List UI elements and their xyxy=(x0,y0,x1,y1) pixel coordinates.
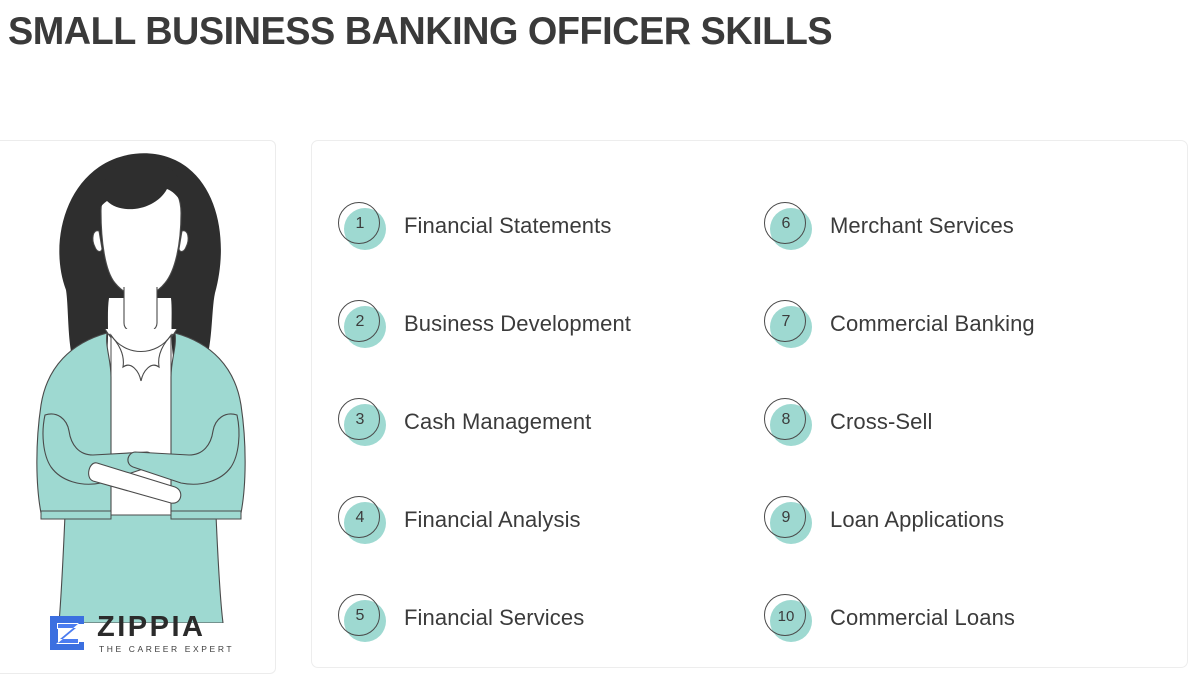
skill-number-badge: 7 xyxy=(764,300,812,348)
badge-number: 7 xyxy=(764,300,808,344)
zippia-name: ZIPPIA xyxy=(97,613,234,642)
zippia-z-mark-icon xyxy=(46,612,88,654)
badge-number: 5 xyxy=(338,594,382,638)
skill-item: 10 Commercial Loans xyxy=(764,569,1194,667)
skill-label: Commercial Banking xyxy=(830,311,1035,337)
skill-item: 9 Loan Applications xyxy=(764,471,1194,569)
skill-label: Financial Statements xyxy=(404,213,611,239)
skill-item: 4 Financial Analysis xyxy=(338,471,768,569)
skill-number-badge: 6 xyxy=(764,202,812,250)
skill-label: Financial Analysis xyxy=(404,507,581,533)
skill-number-badge: 4 xyxy=(338,496,386,544)
zippia-logo[interactable]: ZIPPIA THE CAREER EXPERT xyxy=(46,612,234,654)
skill-item: 3 Cash Management xyxy=(338,373,768,471)
skill-label: Cash Management xyxy=(404,409,591,435)
skill-label: Financial Services xyxy=(404,605,584,631)
skill-label: Cross-Sell xyxy=(830,409,932,435)
skill-number-badge: 10 xyxy=(764,594,812,642)
skill-item: 2 Business Development xyxy=(338,275,768,373)
illustration-card xyxy=(0,140,276,674)
page-title: SMALL BUSINESS BANKING OFFICER SKILLS xyxy=(8,10,832,54)
skill-item: 5 Financial Services xyxy=(338,569,768,667)
skills-column-right: 6 Merchant Services 7 Commercial Banking… xyxy=(764,177,1194,667)
badge-number: 3 xyxy=(338,398,382,442)
skill-label: Merchant Services xyxy=(830,213,1014,239)
skill-number-badge: 1 xyxy=(338,202,386,250)
badge-number: 10 xyxy=(764,594,808,638)
badge-number: 4 xyxy=(338,496,382,540)
badge-number: 6 xyxy=(764,202,808,246)
skill-item: 8 Cross-Sell xyxy=(764,373,1194,471)
zippia-wordmark: ZIPPIA THE CAREER EXPERT xyxy=(97,613,234,654)
business-woman-illustration xyxy=(0,140,276,623)
skill-label: Commercial Loans xyxy=(830,605,1015,631)
badge-number: 1 xyxy=(338,202,382,246)
skill-number-badge: 9 xyxy=(764,496,812,544)
skill-label: Loan Applications xyxy=(830,507,1004,533)
skill-number-badge: 3 xyxy=(338,398,386,446)
skill-number-badge: 8 xyxy=(764,398,812,446)
skill-number-badge: 2 xyxy=(338,300,386,348)
skill-item: 6 Merchant Services xyxy=(764,177,1194,275)
skill-number-badge: 5 xyxy=(338,594,386,642)
badge-number: 9 xyxy=(764,496,808,540)
zippia-tagline: THE CAREER EXPERT xyxy=(99,645,234,654)
skills-column-left: 1 Financial Statements 2 Business Develo… xyxy=(338,177,768,667)
badge-number: 8 xyxy=(764,398,808,442)
skill-item: 1 Financial Statements xyxy=(338,177,768,275)
badge-number: 2 xyxy=(338,300,382,344)
skill-label: Business Development xyxy=(404,311,631,337)
skills-card: 1 Financial Statements 2 Business Develo… xyxy=(311,140,1188,668)
skill-item: 7 Commercial Banking xyxy=(764,275,1194,373)
